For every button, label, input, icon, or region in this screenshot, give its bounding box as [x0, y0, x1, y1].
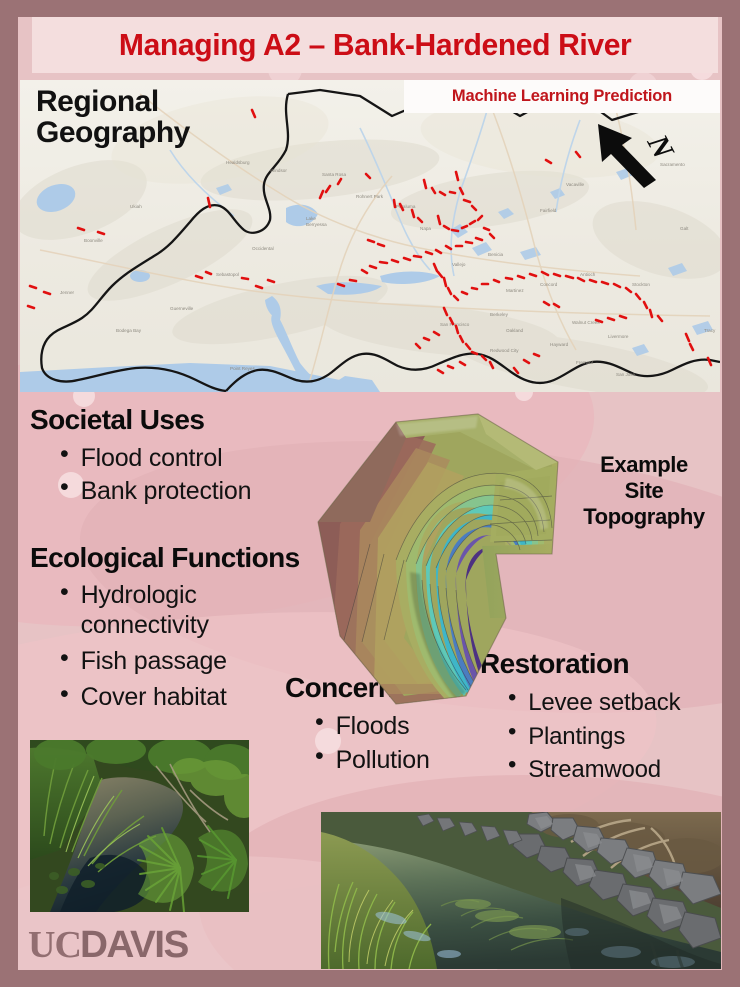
poster-root: Managing A2 – Bank-Hardened River — [0, 0, 740, 987]
poster-title-band: Managing A2 – Bank-Hardened River — [32, 17, 718, 73]
svg-text:Guerneville: Guerneville — [170, 306, 194, 311]
list-item-label: Streamwood — [528, 753, 661, 787]
list-item-label: Bank protection — [81, 475, 252, 508]
north-arrow-icon: N — [592, 118, 682, 192]
list-item-label: Pollution — [336, 744, 430, 778]
list-item-label: Fish passage — [81, 646, 227, 676]
svg-text:Stockton: Stockton — [632, 282, 650, 287]
svg-text:Ukiah: Ukiah — [130, 204, 142, 209]
svg-text:Windsor: Windsor — [270, 168, 287, 173]
svg-text:Berkeley: Berkeley — [490, 312, 509, 317]
list-item-label: Hydrologic connectivity — [81, 580, 300, 640]
svg-text:Benicia: Benicia — [488, 252, 504, 257]
bullet-glyph: • — [508, 720, 516, 744]
ml-prediction-label: Machine Learning Prediction — [452, 87, 672, 106]
map-title-line1: Regional — [36, 86, 190, 117]
svg-text:Sebastopol: Sebastopol — [216, 272, 239, 277]
list-item-label: Floods — [336, 710, 410, 744]
svg-text:Point Reyes: Point Reyes — [230, 366, 255, 371]
svg-text:Antioch: Antioch — [580, 272, 596, 277]
ml-prediction-banner: Machine Learning Prediction — [404, 80, 720, 113]
concerns-list: • Floods • Pollution — [285, 710, 485, 778]
list-item: • Plantings — [508, 720, 735, 754]
map-title-line2: Geography — [36, 117, 190, 148]
logo-uc-text: UC — [28, 923, 81, 967]
svg-text:Occidental: Occidental — [252, 246, 274, 251]
svg-text:Napa: Napa — [420, 226, 431, 231]
svg-text:Boonville: Boonville — [84, 238, 103, 243]
svg-text:Rohnert Park: Rohnert Park — [356, 194, 384, 199]
svg-text:Jenner: Jenner — [60, 290, 75, 295]
bullet-glyph: • — [60, 646, 69, 671]
svg-text:Santa Rosa: Santa Rosa — [322, 172, 346, 177]
list-item-label: Flood control — [81, 442, 223, 475]
list-item-label: Plantings — [528, 720, 625, 754]
bullet-glyph: • — [60, 475, 69, 500]
svg-text:Hayward: Hayward — [550, 342, 569, 347]
svg-text:Oakland: Oakland — [506, 328, 524, 333]
svg-text:Fairfield: Fairfield — [540, 208, 557, 213]
bullet-glyph: • — [315, 744, 324, 769]
svg-text:Tracy: Tracy — [704, 328, 716, 333]
list-item: • Pollution — [315, 744, 485, 778]
svg-text:Fremont: Fremont — [576, 360, 594, 365]
svg-text:Martinez: Martinez — [506, 288, 524, 293]
topography-caption-line3: Topography — [556, 504, 732, 530]
svg-text:N: N — [640, 129, 680, 166]
page-title: Managing A2 – Bank-Hardened River — [119, 27, 631, 63]
riprap-bank-art — [321, 812, 721, 969]
topography-caption-line2: Site — [556, 478, 732, 504]
map-title: Regional Geography — [36, 86, 190, 148]
svg-text:Bodega Bay: Bodega Bay — [116, 328, 142, 333]
bullet-glyph: • — [508, 753, 516, 777]
vegetated-channel-art — [30, 740, 249, 912]
svg-text:Galt: Galt — [680, 226, 689, 231]
svg-text:Concord: Concord — [540, 282, 558, 287]
bullet-glyph: • — [60, 682, 69, 707]
svg-text:Livermore: Livermore — [608, 334, 629, 339]
regional-geography-map[interactable]: Healdsburg Windsor Santa Rosa Rohnert Pa… — [20, 80, 720, 392]
logo-davis-text: DAVIS — [80, 924, 188, 967]
riprap-bank-photo — [321, 812, 721, 969]
svg-text:Vallejo: Vallejo — [452, 262, 466, 267]
svg-text:Vacaville: Vacaville — [566, 182, 584, 187]
uc-davis-logo: UC DAVIS — [28, 923, 187, 967]
svg-text:Lake: Lake — [306, 216, 316, 221]
list-item: • Streamwood — [508, 753, 735, 787]
bullet-glyph: • — [60, 442, 69, 467]
list-item: • Floods — [315, 710, 485, 744]
bullet-glyph: • — [60, 580, 69, 605]
svg-text:Healdsburg: Healdsburg — [226, 160, 250, 165]
svg-text:San Jose: San Jose — [616, 372, 636, 377]
svg-text:Berryessa: Berryessa — [306, 222, 327, 227]
topography-caption-line1: Example — [556, 452, 732, 478]
list-item: • Hydrologic connectivity — [60, 580, 300, 640]
list-item-label: Cover habitat — [81, 682, 227, 712]
3d-elevation-model — [300, 404, 620, 714]
vegetated-channel-photo — [30, 740, 249, 912]
svg-text:Redwood City: Redwood City — [490, 348, 519, 353]
topography-caption: Example Site Topography — [556, 452, 732, 530]
